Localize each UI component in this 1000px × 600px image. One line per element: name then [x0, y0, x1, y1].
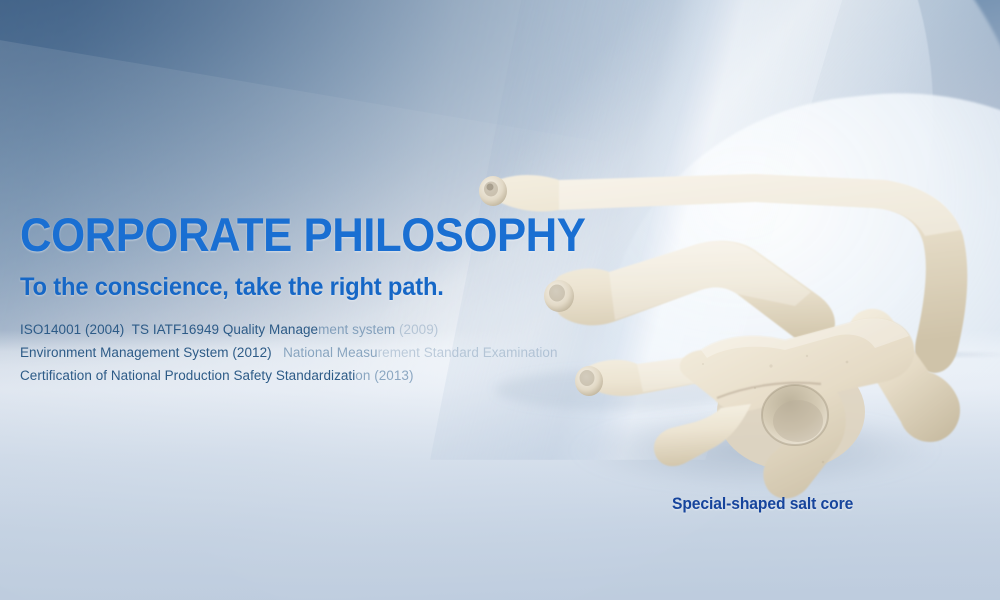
page-subtitle: To the conscience, take the right path. [20, 272, 609, 302]
certification-list: ISO14001 (2004) TS IATF16949 Quality Man… [20, 318, 640, 387]
certification-text-tail: National Measu [283, 345, 378, 360]
headline-text-block: CORPORATE PHILOSOPHY To the conscience, … [20, 210, 640, 387]
corporate-philosophy-banner: CORPORATE PHILOSOPHY To the conscience, … [0, 0, 1000, 600]
certification-text: Certification of National Production Saf… [20, 368, 355, 383]
product-caption: Special-shaped salt core [672, 494, 853, 514]
certification-text: ISO14001 (2004) TS IATF16949 Quality Man… [20, 322, 318, 337]
certification-text-tail: on (2013) [355, 368, 413, 383]
salt-core-upper-arm-cap [479, 176, 507, 206]
certification-text-fade: (2009) [399, 322, 438, 337]
certification-line: Environment Management System (2012) Nat… [20, 341, 640, 364]
certification-line: Certification of National Production Saf… [20, 364, 640, 387]
certification-text-tail: ment system [318, 322, 399, 337]
certification-line: ISO14001 (2004) TS IATF16949 Quality Man… [20, 318, 640, 341]
certification-text-fade: rement Standard Examination [378, 345, 558, 360]
page-title: CORPORATE PHILOSOPHY [20, 210, 597, 260]
certification-text: Environment Management System (2012) [20, 345, 283, 360]
